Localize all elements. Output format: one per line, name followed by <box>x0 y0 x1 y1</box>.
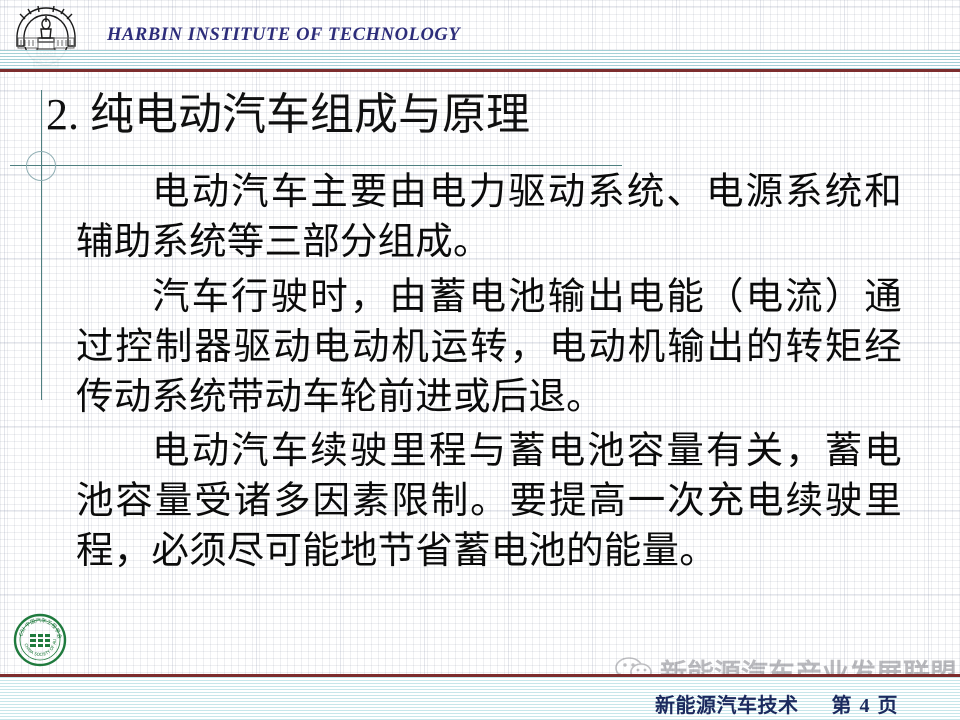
footer-page-number: 4 <box>858 695 873 717</box>
footer-page-prefix: 第 <box>832 695 853 717</box>
footer-info: 新能源汽车技术 第 4 页 <box>655 689 898 718</box>
slide-header: 1920 哈工大 HARBIN INSTITUTE OF TECHNOLOGY <box>0 0 960 73</box>
header-rule <box>0 69 960 72</box>
decorative-vertical-line <box>41 90 42 400</box>
body-paragraph-2: 汽车行驶时，由蓄电池输出电能（电流）通过控制器驱动电动机运转，电动机输出的转矩经… <box>76 273 902 423</box>
decorative-circle <box>26 151 56 181</box>
body-paragraph-1: 电动汽车主要由电力驱动系统、电源系统和辅助系统等三部分组成。 <box>76 168 902 268</box>
decorative-horizontal-line <box>10 165 622 166</box>
footer-page-suffix: 页 <box>878 695 899 717</box>
body-paragraph-3: 电动汽车续驶里程与蓄电池容量有关，蓄电池容量受诸多因素限制。要提高一次充电续驶里… <box>76 427 902 577</box>
slide-body: 电动汽车主要由电力驱动系统、电源系统和辅助系统等三部分组成。 汽车行驶时，由蓄电… <box>76 168 902 582</box>
footer-course: 新能源汽车技术 <box>655 695 799 717</box>
presentation-slide: 1920 哈工大 HARBIN INSTITUTE OF TECHNOLOGY … <box>0 0 960 720</box>
green-circular-seal: CSI 中国汽车工程学会 CHINA SOCIETY OF AUTOMOTIVE <box>12 612 68 668</box>
institution-title: HARBIN INSTITUTE OF TECHNOLOGY <box>107 25 460 46</box>
slide-title: 2. 纯电动汽车组成与原理 <box>46 92 530 138</box>
header-stripe-band <box>0 50 960 69</box>
